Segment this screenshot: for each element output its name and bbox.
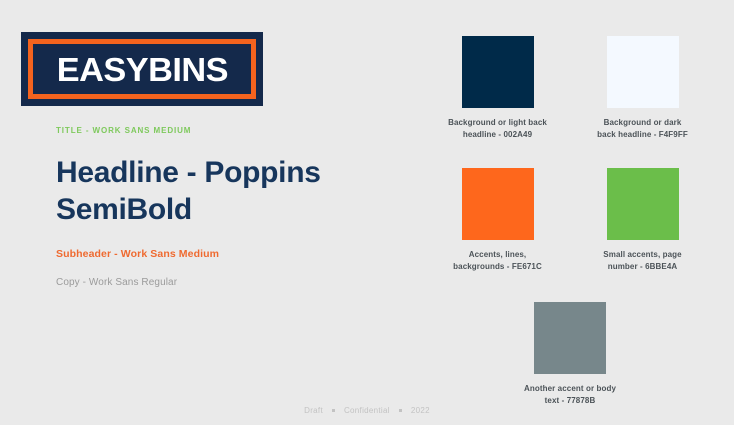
subheader-specimen: Subheader - Work Sans Medium bbox=[56, 248, 219, 260]
footer-separator-icon bbox=[399, 409, 402, 412]
swatch-caption-line-2: headline - 002A49 bbox=[463, 130, 532, 139]
color-swatch-navy: Background or light back headline - 002A… bbox=[425, 36, 570, 140]
footer-year: 2022 bbox=[411, 406, 430, 415]
swatch-caption: Another accent or body text - 77878B bbox=[505, 383, 635, 406]
swatch-chip bbox=[462, 168, 534, 240]
swatch-caption: Background or light back headline - 002A… bbox=[433, 117, 563, 140]
swatch-caption-line-2: back headline - F4F9FF bbox=[597, 130, 688, 139]
headline-specimen: Headline - Poppins SemiBold bbox=[56, 155, 386, 228]
easybins-logo: EASYBINS bbox=[21, 32, 263, 106]
palette-row: Accents, lines, backgrounds - FE671C Sma… bbox=[425, 168, 715, 272]
swatch-caption-line-1: Accents, lines, bbox=[469, 250, 527, 259]
swatch-caption-line-1: Background or dark bbox=[604, 118, 682, 127]
color-swatch-orange: Accents, lines, backgrounds - FE671C bbox=[425, 168, 570, 272]
color-swatch-offwhite: Background or dark back headline - F4F9F… bbox=[570, 36, 715, 140]
swatch-caption-line-2: text - 77878B bbox=[545, 396, 596, 405]
swatch-chip bbox=[607, 36, 679, 108]
swatch-chip bbox=[534, 302, 606, 374]
footer-classification: Confidential bbox=[344, 406, 390, 415]
swatch-chip bbox=[607, 168, 679, 240]
color-swatch-green: Small accents, page number - 6BBE4A bbox=[570, 168, 715, 272]
logo-inner-field: EASYBINS bbox=[37, 47, 247, 91]
swatch-caption: Small accents, page number - 6BBE4A bbox=[578, 249, 708, 272]
swatch-caption-line-2: number - 6BBE4A bbox=[608, 262, 678, 271]
slide-footer: Draft Confidential 2022 bbox=[0, 406, 734, 415]
palette-row: Background or light back headline - 002A… bbox=[425, 36, 715, 140]
swatch-caption: Background or dark back headline - F4F9F… bbox=[578, 117, 708, 140]
swatch-caption: Accents, lines, backgrounds - FE671C bbox=[433, 249, 563, 272]
swatch-caption-line-1: Small accents, page bbox=[603, 250, 681, 259]
color-swatch-slate: Another accent or body text - 77878B bbox=[498, 302, 643, 406]
brand-logo-block: EASYBINS bbox=[21, 32, 381, 106]
swatch-caption-line-1: Another accent or body bbox=[524, 384, 616, 393]
swatch-caption-line-1: Background or light back bbox=[448, 118, 547, 127]
swatch-chip bbox=[462, 36, 534, 108]
title-style-label: TITLE - WORK SANS MEDIUM bbox=[56, 126, 191, 135]
palette-row: Another accent or body text - 77878B bbox=[425, 302, 715, 406]
slide-canvas: EASYBINS TITLE - WORK SANS MEDIUM Headli… bbox=[0, 0, 734, 425]
swatch-caption-line-2: backgrounds - FE671C bbox=[453, 262, 542, 271]
logo-wordmark-text: EASYBINS bbox=[56, 53, 227, 86]
color-palette-grid: Background or light back headline - 002A… bbox=[425, 36, 715, 407]
footer-status: Draft bbox=[304, 406, 323, 415]
body-copy-specimen: Copy - Work Sans Regular bbox=[56, 277, 177, 288]
logo-orange-frame: EASYBINS bbox=[28, 39, 256, 99]
footer-separator-icon bbox=[332, 409, 335, 412]
